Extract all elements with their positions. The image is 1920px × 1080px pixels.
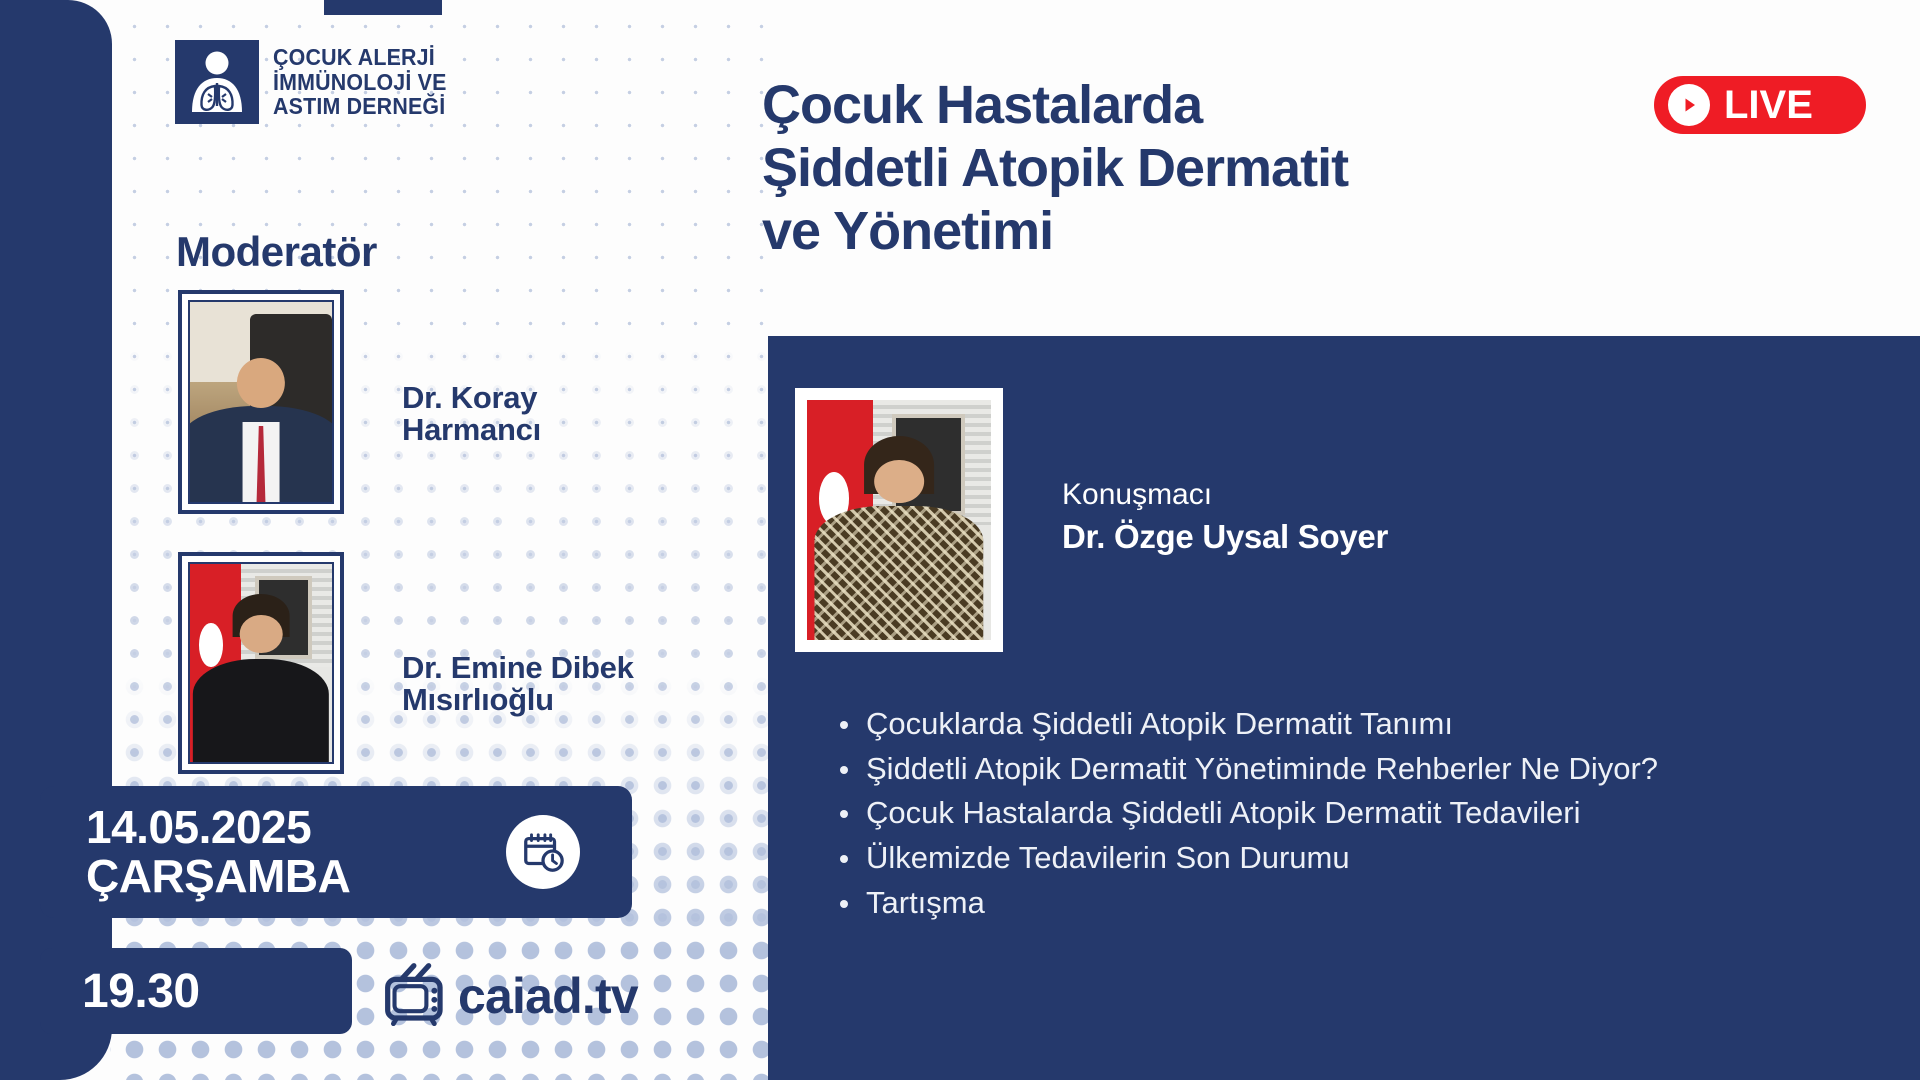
calendar-clock-icon xyxy=(506,815,580,889)
live-badge[interactable]: LIVE xyxy=(1654,76,1866,134)
moderator-photo-1 xyxy=(178,290,344,514)
agenda-list: Çocuklarda Şiddetli Atopik Dermatit Tanı… xyxy=(832,704,1862,927)
speaker-role: Konuşmacı xyxy=(1062,478,1212,512)
agenda-item: Çocuk Hastalarda Şiddetli Atopik Dermati… xyxy=(832,793,1862,833)
agenda-item: Çocuklarda Şiddetli Atopik Dermatit Tanı… xyxy=(832,704,1862,744)
time-box: 19.30 xyxy=(40,948,352,1034)
live-label: LIVE xyxy=(1724,85,1813,125)
moderator-label: Moderatör xyxy=(176,228,377,276)
moderator-name-1: Dr. Koray Harmancı xyxy=(402,382,702,446)
moderator-name-2: Dr. Emine Dibek Mısırlıoğlu xyxy=(402,652,722,716)
television-icon xyxy=(378,960,452,1031)
page-title: Çocuk Hastalarda Şiddetli Atopik Dermati… xyxy=(762,74,1662,264)
agenda-item: Şiddetli Atopik Dermatit Yönetiminde Reh… xyxy=(832,749,1862,789)
time-text: 19.30 xyxy=(82,964,200,1019)
person-lungs-icon xyxy=(175,40,259,124)
play-icon xyxy=(1668,84,1710,126)
association-logo: ÇOCUK ALERJİ İMMÜNOLOJİ VE ASTIM DERNEĞİ xyxy=(175,40,460,124)
site-url[interactable]: caiad.tv xyxy=(458,967,638,1025)
moderator-photo-2 xyxy=(178,552,344,774)
agenda-item: Tartışma xyxy=(832,883,1862,923)
webinar-poster: ÇOCUK ALERJİ İMMÜNOLOJİ VE ASTIM DERNEĞİ… xyxy=(0,0,1920,1080)
top-accent-tab xyxy=(324,0,442,15)
date-box: 14.05.2025 ÇARŞAMBA xyxy=(40,786,632,918)
speaker-name: Dr. Özge Uysal Soyer xyxy=(1062,518,1388,556)
agenda-item: Ülkemizde Tedavilerin Son Durumu xyxy=(832,838,1862,878)
site-row[interactable]: caiad.tv xyxy=(378,960,638,1031)
logo-wordmark: ÇOCUK ALERJİ İMMÜNOLOJİ VE ASTIM DERNEĞİ xyxy=(273,45,447,119)
speaker-photo xyxy=(795,388,1003,652)
dot-pattern-background xyxy=(110,0,770,1080)
left-accent-bar xyxy=(0,0,112,1080)
date-text: 14.05.2025 ÇARŞAMBA xyxy=(86,803,350,901)
